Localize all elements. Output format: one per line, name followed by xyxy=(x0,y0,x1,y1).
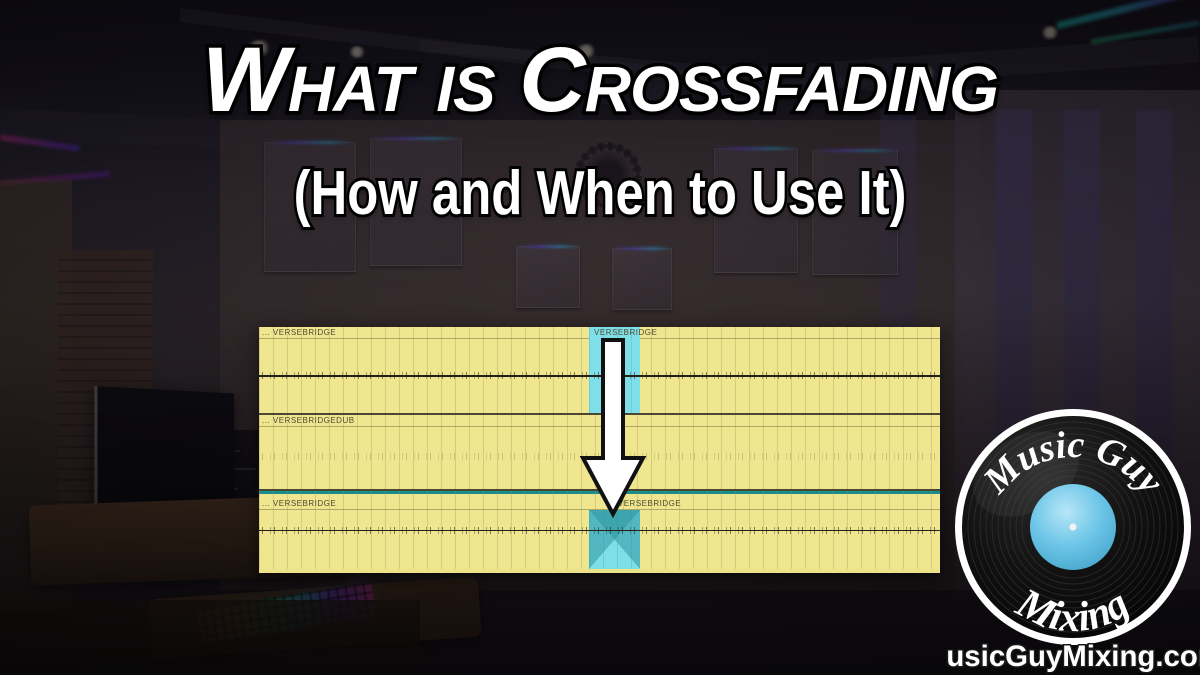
arrow-shape xyxy=(583,340,643,514)
down-arrow-icon xyxy=(575,338,651,518)
clip-label: VERSEBRIDGE xyxy=(594,328,657,337)
clip-label: ... VERSEBRIDGE xyxy=(262,328,336,337)
page-title: What is Crossfading xyxy=(0,34,1200,126)
vinyl-record-logo: Music Guy Mixing MusicGuyMixing.com xyxy=(946,404,1200,675)
spindle-hole xyxy=(1069,523,1076,530)
logo-website-text[interactable]: MusicGuyMixing.com xyxy=(946,640,1200,673)
clip-label: ... VERSEBRIDGE xyxy=(262,499,336,508)
annotation-arrow-container xyxy=(575,338,651,518)
crossfade-x-shape[interactable] xyxy=(589,510,639,569)
brand-logo[interactable]: Music Guy Mixing MusicGuyMixing.com xyxy=(946,404,1200,675)
waveform-line xyxy=(259,530,940,531)
thumbnail-canvas: What is Crossfading (How and When to Use… xyxy=(0,0,1200,675)
clip-label: ... VERSEBRIDGEDUB xyxy=(262,416,355,425)
page-subtitle: (How and When to Use It) xyxy=(108,163,1092,225)
